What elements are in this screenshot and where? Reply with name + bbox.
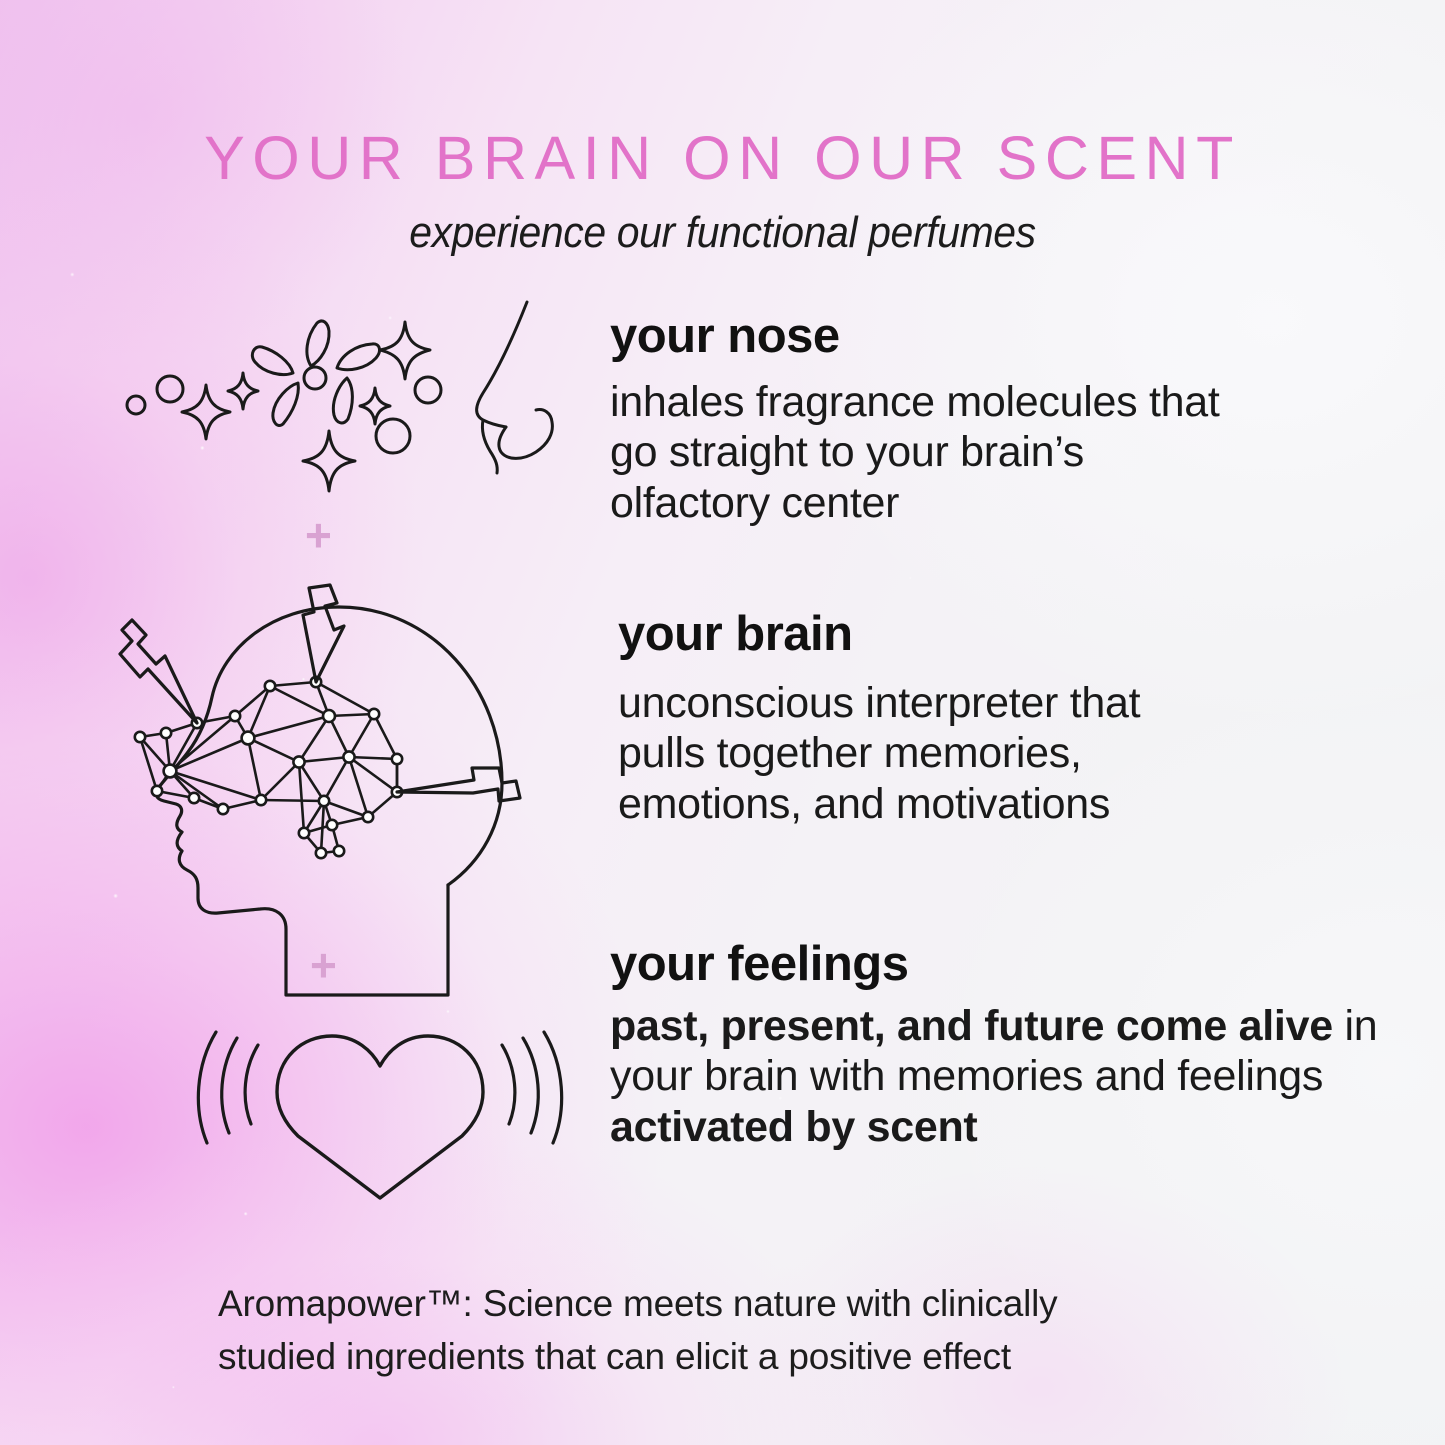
page-subtitle: experience our functional perfumes (51, 189, 1395, 255)
lightning-bolt-left (120, 620, 197, 723)
step-your-brain: your brain unconscious interpreter that … (110, 585, 1410, 915)
step-feelings-bold-2: activated by scent (610, 1103, 977, 1151)
step-feelings-body: past, present, and future come alive in … (610, 1001, 1410, 1152)
sparkle-medium-left (182, 385, 230, 439)
page-title: YOUR BRAIN ON OUR SCENT (0, 0, 1445, 189)
bubble-medium-left (157, 376, 183, 402)
bubble-large-right (376, 419, 410, 453)
step-brain-body-line-1: unconscious interpreter that (618, 679, 1140, 727)
step-nose-body-line-1: inhales fragrance molecules that (610, 378, 1219, 426)
footer-text: Aromapower™: Science meets nature with c… (218, 1278, 1298, 1384)
step-brain-body-line-3: emotions, and motivations (618, 780, 1110, 828)
infographic-poster: YOUR BRAIN ON OUR SCENT experience our f… (0, 0, 1445, 1445)
step-your-feelings: your feelings past, present, and future … (110, 940, 1410, 1170)
step-nose-body: inhales fragrance molecules that go stra… (610, 377, 1410, 528)
bubble-small-farleft (127, 396, 145, 414)
footer-line-2: studied ingredients that can elicit a po… (218, 1336, 1011, 1377)
head-crown (339, 607, 502, 885)
nose-with-fragrance-molecules-icon (110, 300, 610, 490)
step-feelings-heading: your feelings (610, 940, 1410, 989)
step-your-nose: your nose inhales fragrance molecules th… (110, 300, 1410, 528)
sparkle-bottom-center (303, 431, 355, 491)
head-with-neural-network-brain-icon (110, 585, 610, 915)
sparkle-small-left (228, 373, 258, 409)
step-feelings-text: your feelings past, present, and future … (610, 940, 1410, 1152)
step-nose-heading: your nose (610, 312, 1410, 361)
footer-line-1: Aromapower™: Science meets nature with c… (218, 1283, 1057, 1324)
step-nose-body-line-2: go straight to your brain’s (610, 428, 1084, 476)
sparkle-small-right (360, 388, 390, 424)
flower-glyph (252, 321, 379, 426)
step-brain-body-line-2: pulls together memories, (618, 729, 1082, 777)
heart-outline (277, 1036, 483, 1198)
step-brain-text: your brain unconscious interpreter that … (610, 585, 1410, 829)
plus-separator-1: + (305, 512, 332, 558)
heart-vibration-arcs-left (198, 1032, 258, 1143)
vibrating-heart-icon (110, 940, 610, 1170)
lightning-bolt-top (303, 585, 344, 682)
poster-header: YOUR BRAIN ON OUR SCENT experience our f… (0, 0, 1445, 255)
sparkle-large-right (380, 322, 430, 379)
step-brain-heading: your brain (618, 610, 1410, 659)
step-feelings-bold-1: past, present, and future come alive (610, 1002, 1333, 1050)
step-nose-body-line-3: olfactory center (610, 479, 899, 527)
step-nose-text: your nose inhales fragrance molecules th… (610, 300, 1410, 528)
footer-note: Aromapower™: Science meets nature with c… (218, 1278, 1298, 1384)
bubble-medium-right (415, 377, 441, 403)
nose-profile-glyph (477, 302, 553, 473)
step-brain-body: unconscious interpreter that pulls toget… (618, 678, 1410, 829)
heart-vibration-arcs-right (502, 1032, 562, 1143)
